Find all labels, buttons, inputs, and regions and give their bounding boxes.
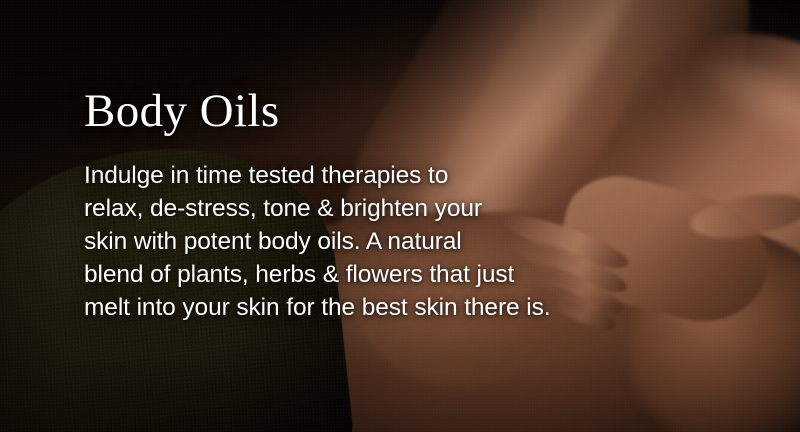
description-line: Indulge in time tested therapies to bbox=[84, 159, 624, 192]
page-title: Body Oils bbox=[84, 88, 624, 135]
description-line: relax, de-stress, tone & brighten your bbox=[84, 192, 624, 225]
description-line: skin with potent body oils. A natural bbox=[84, 225, 624, 258]
description-line: melt into your skin for the best skin th… bbox=[84, 291, 624, 324]
body-oils-hero-banner: Body Oils Indulge in time tested therapi… bbox=[0, 0, 800, 432]
banner-text-block: Body Oils Indulge in time tested therapi… bbox=[84, 88, 624, 324]
banner-description: Indulge in time tested therapies to rela… bbox=[84, 135, 624, 324]
description-line: blend of plants, herbs & flowers that ju… bbox=[84, 258, 624, 291]
